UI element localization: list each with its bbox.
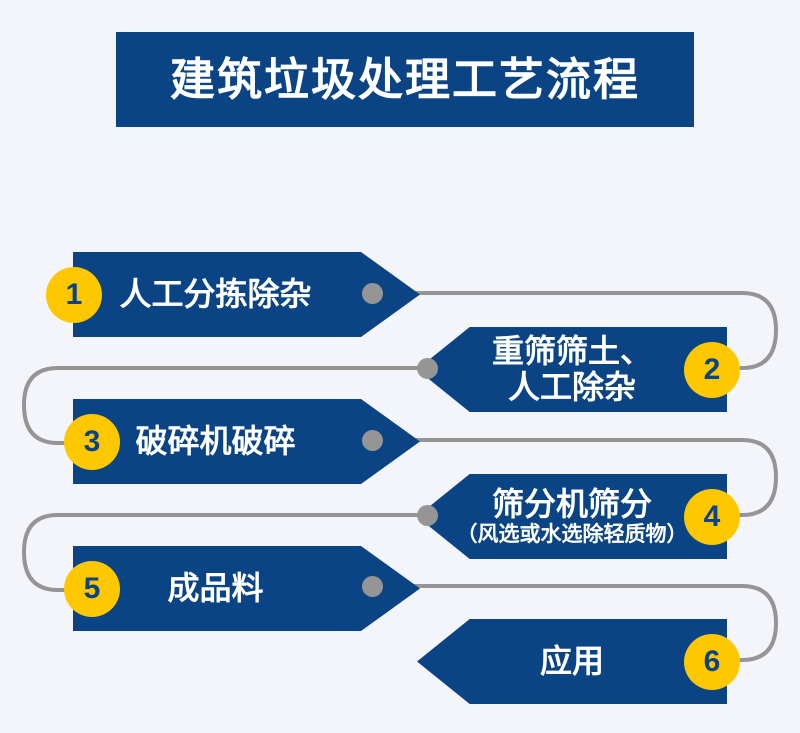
connector-dot-3-out: [362, 430, 383, 451]
step-badge-6: 6: [684, 634, 740, 690]
step-label-3-main: 破碎机破碎: [135, 424, 295, 460]
step-label-1-main: 人工分拣除杂: [120, 277, 312, 313]
step-label-6-main: 应用: [540, 644, 604, 680]
step-badge-5-number: 5: [84, 572, 101, 606]
step-label-2-sub: 人工除杂: [508, 370, 636, 406]
step-badge-1: 1: [46, 267, 102, 323]
connector-dot-4-in: [417, 505, 438, 526]
step-badge-3: 3: [64, 414, 120, 470]
page-title: 建筑垃圾处理工艺流程: [170, 57, 640, 102]
step-label-5: 成品料: [121, 546, 310, 631]
step-label-4-sub: （风选或水选除轻质物）: [457, 523, 688, 547]
step-badge-2-number: 2: [704, 353, 721, 387]
step-label-2-main: 重筛筛土、: [492, 334, 652, 370]
title-banner: 建筑垃圾处理工艺流程: [116, 32, 694, 127]
connector-dot-1-out: [362, 283, 383, 304]
step-badge-6-number: 6: [704, 645, 721, 679]
step-label-1: 人工分拣除杂: [121, 252, 310, 337]
step-label-4: 筛分机筛分 （风选或水选除轻质物）: [495, 474, 649, 559]
step-badge-4: 4: [684, 489, 740, 545]
step-box-2[interactable]: 重筛筛土、 人工除杂: [417, 327, 727, 412]
step-badge-1-number: 1: [66, 278, 83, 312]
flowchart-canvas: 建筑垃圾处理工艺流程 人工分拣除杂 1 重筛筛土、 人工除杂 2: [0, 0, 800, 733]
connector-dot-2-in: [417, 358, 438, 379]
step-label-6: 应用: [495, 619, 649, 704]
step-label-2: 重筛筛土、 人工除杂: [495, 327, 649, 412]
connector-dot-5-out: [362, 576, 383, 597]
step-label-4-main: 筛分机筛分: [492, 487, 652, 523]
step-box-4[interactable]: 筛分机筛分 （风选或水选除轻质物）: [417, 474, 727, 559]
step-badge-5: 5: [64, 561, 120, 617]
step-box-6[interactable]: 应用: [417, 619, 727, 704]
step-badge-4-number: 4: [704, 500, 721, 534]
step-badge-3-number: 3: [84, 425, 101, 459]
step-badge-2: 2: [684, 342, 740, 398]
step-label-3: 破碎机破碎: [121, 399, 310, 484]
step-label-5-main: 成品料: [167, 571, 263, 607]
